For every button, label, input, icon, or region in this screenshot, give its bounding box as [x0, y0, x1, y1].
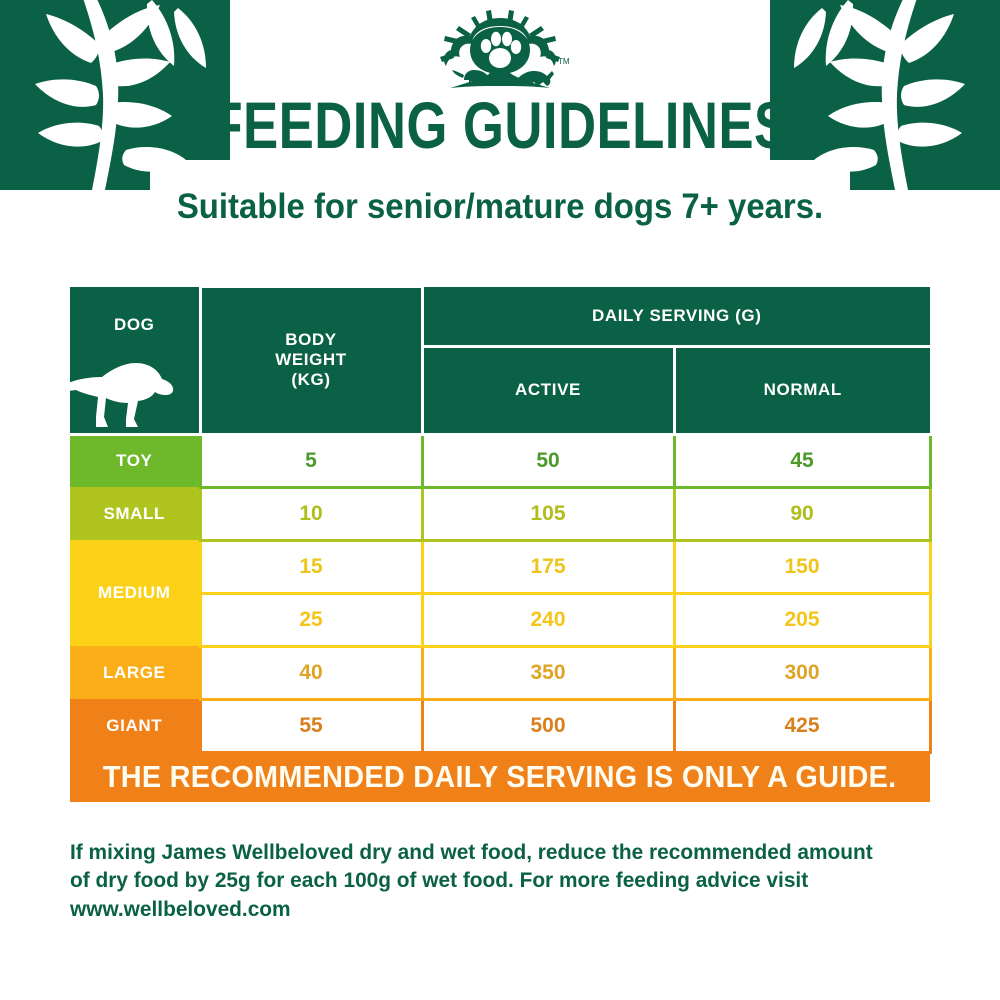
size-label-cell: LARGE: [70, 646, 200, 699]
active-cell: 50: [422, 434, 674, 487]
weight-cell: 55: [200, 699, 422, 752]
weight-cell: 25: [200, 593, 422, 646]
header-cell-body-weight: BODY WEIGHT (KG): [200, 287, 422, 435]
trademark-mark: TM: [558, 57, 570, 66]
table-row: MEDIUM15175150: [70, 540, 930, 593]
header-label-body-weight-3: (KG): [202, 370, 421, 390]
weight-cell: 5: [200, 434, 422, 487]
header-label-body-weight-2: WEIGHT: [202, 350, 421, 370]
normal-cell: 150: [674, 540, 930, 593]
active-cell: 350: [422, 646, 674, 699]
footnote-line-2: of dry food by 25g for each 100g of wet …: [70, 866, 906, 894]
normal-cell: 425: [674, 699, 930, 752]
header-cell-daily-serving: DAILY SERVING (G): [422, 287, 930, 347]
size-label-cell: GIANT: [70, 699, 200, 752]
size-label-cell: SMALL: [70, 487, 200, 540]
page-title: FEEDING GUIDELINES: [100, 92, 900, 158]
table-row: LARGE40350300: [70, 646, 930, 699]
header-cell-normal: NORMAL: [674, 346, 930, 434]
weight-cell: 40: [200, 646, 422, 699]
header-cell-dog: DOG: [70, 287, 200, 435]
active-cell: 105: [422, 487, 674, 540]
page-subtitle: Suitable for senior/mature dogs 7+ years…: [30, 186, 970, 228]
footnote: If mixing James Wellbeloved dry and wet …: [70, 838, 906, 923]
weight-cell: 15: [200, 540, 422, 593]
weight-cell: 10: [200, 487, 422, 540]
dog-silhouette-icon: [68, 357, 198, 431]
normal-cell: 300: [674, 646, 930, 699]
guide-disclaimer-banner: THE RECOMMENDED DAILY SERVING IS ONLY A …: [70, 752, 930, 802]
brand-logo: TM: [430, 8, 570, 94]
header-cell-active: ACTIVE: [422, 346, 674, 434]
table-row: GIANT55500425: [70, 699, 930, 752]
guide-disclaimer-text: THE RECOMMENDED DAILY SERVING IS ONLY A …: [103, 759, 897, 795]
active-cell: 240: [422, 593, 674, 646]
normal-cell: 90: [674, 487, 930, 540]
feeding-table-wrap: DOG BODY WEIGHT (KG) DAILY SERVING (G) A…: [70, 285, 930, 754]
header-label-body-weight-1: BODY: [202, 330, 421, 350]
normal-cell: 205: [674, 593, 930, 646]
footnote-line-3: www.wellbeloved.com: [70, 895, 906, 923]
footnote-line-1: If mixing James Wellbeloved dry and wet …: [70, 838, 906, 866]
normal-cell: 45: [674, 434, 930, 487]
table-header-row-1: DOG BODY WEIGHT (KG) DAILY SERVING (G): [70, 287, 930, 347]
size-label-cell: MEDIUM: [70, 540, 200, 646]
table-row: SMALL1010590: [70, 487, 930, 540]
header-label-dog: DOG: [70, 315, 199, 335]
feeding-guidelines-table: DOG BODY WEIGHT (KG) DAILY SERVING (G) A…: [70, 285, 932, 754]
table-row: TOY55045: [70, 434, 930, 487]
active-cell: 500: [422, 699, 674, 752]
size-label-cell: TOY: [70, 434, 200, 487]
tree-paw-cat-dog-logo-icon: TM: [430, 8, 570, 94]
active-cell: 175: [422, 540, 674, 593]
